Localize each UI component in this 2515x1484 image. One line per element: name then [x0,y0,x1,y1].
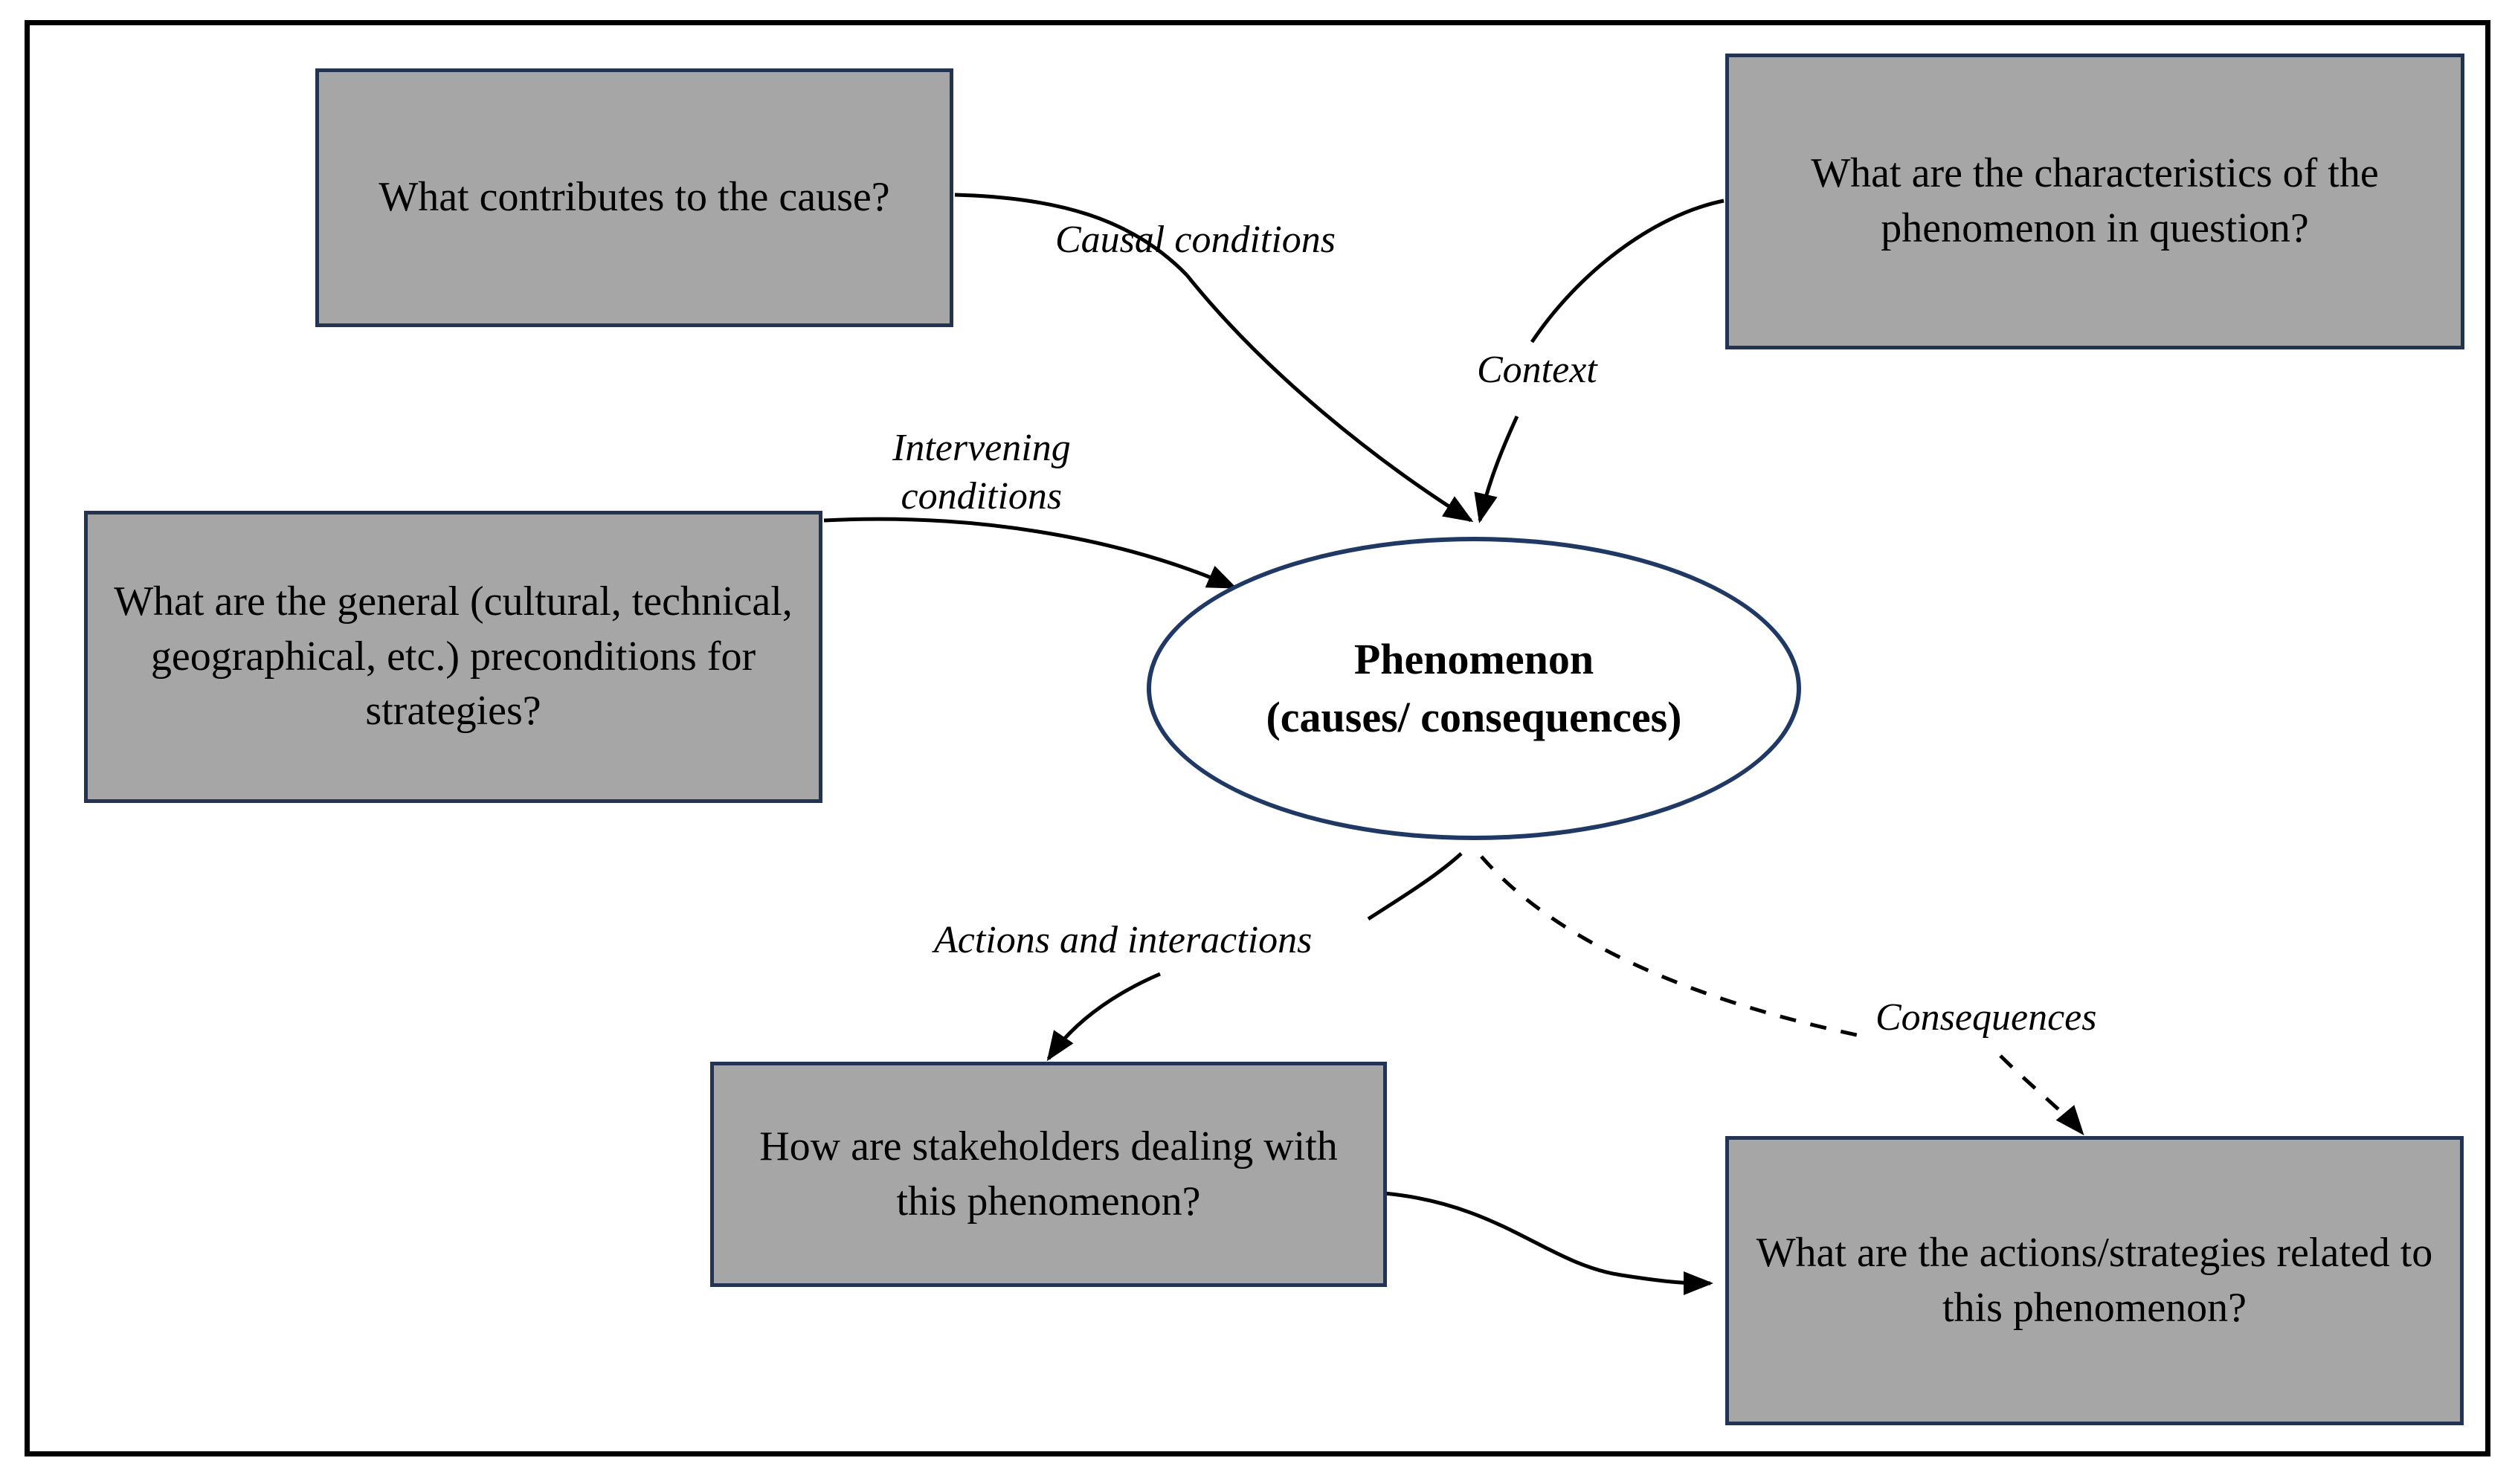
box-characteristics-label: What are the characteristics of the phen… [1750,146,2440,257]
box-preconditions: What are the general (cultural, technica… [84,511,822,803]
box-stakeholders: How are stakeholders dealing with this p… [710,1062,1387,1287]
box-stakeholders-label: How are stakeholders dealing with this p… [735,1120,1362,1230]
edge-label-context: Context [1477,346,1597,394]
box-actions-strategies: What are the actions/strategies related … [1725,1136,2464,1425]
figure-canvas: What contributes to the cause? What are … [0,0,2515,1484]
box-causal-conditions: What contributes to the cause? [315,68,953,327]
edge-label-consequences: Consequences [1875,993,2096,1042]
edge-label-causal-conditions: Causal conditions [1055,216,1336,264]
phenomenon-ellipse: Phenomenon (causes/ consequences) [1147,537,1801,840]
edge-label-actions-and-interactions: Actions and interactions [934,916,1312,964]
box-actions-strategies-label: What are the actions/strategies related … [1750,1226,2439,1336]
phenomenon-subtitle: (causes/ consequences) [1266,688,1681,746]
box-causal-conditions-label: What contributes to the cause? [379,170,889,225]
edge-label-intervening-conditions: Intervening conditions [892,424,1071,520]
phenomenon-title: Phenomenon [1354,630,1594,688]
box-preconditions-label: What are the general (cultural, technica… [109,575,798,740]
box-characteristics: What are the characteristics of the phen… [1725,54,2464,349]
